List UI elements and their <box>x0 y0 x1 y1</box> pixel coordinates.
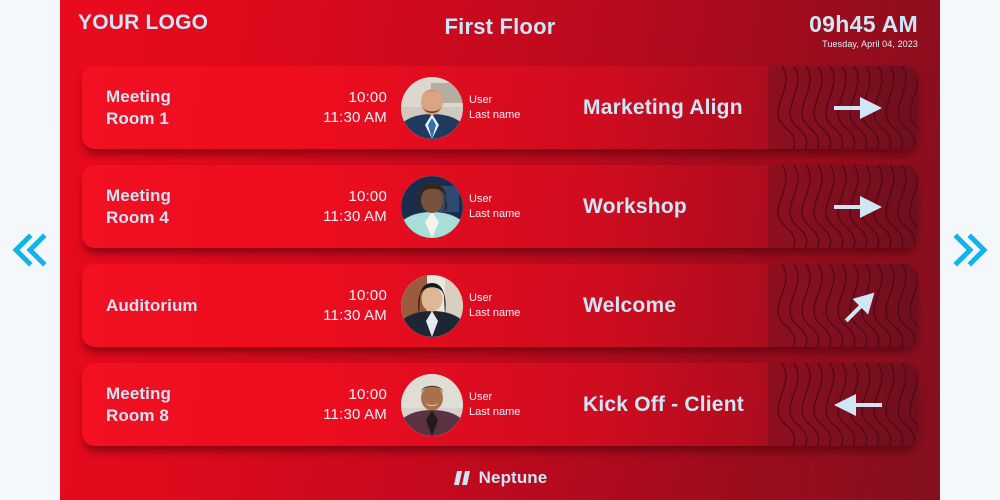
person-first-name: User <box>469 291 565 305</box>
meeting-rows: Meeting Room 1 10:00 11:30 AM <box>60 58 940 446</box>
meeting-start-time: 10:00 <box>297 286 387 306</box>
signage-board: YOUR LOGO First Floor 09h45 AM Tuesday, … <box>60 0 940 500</box>
person-name: User Last name <box>469 291 565 319</box>
person-last-name: Last name <box>469 405 565 419</box>
meeting-time: 10:00 11:30 AM <box>297 88 387 128</box>
board-header: YOUR LOGO First Floor 09h45 AM Tuesday, … <box>60 0 940 58</box>
meeting-time: 10:00 11:30 AM <box>297 385 387 425</box>
meeting-row[interactable]: Meeting Room 1 10:00 11:30 AM <box>82 66 918 149</box>
room-name: Auditorium <box>82 295 297 317</box>
person-last-name: Last name <box>469 108 565 122</box>
arrow-right-icon[interactable] <box>832 192 884 222</box>
room-name-line2: Room 1 <box>106 108 297 130</box>
meeting-end-time: 11:30 AM <box>297 207 387 227</box>
room-name: Meeting Room 4 <box>82 185 297 229</box>
brand-name: Neptune <box>479 468 548 488</box>
arrow-left-icon[interactable] <box>832 390 884 420</box>
room-name-line1: Auditorium <box>106 295 297 317</box>
person-name: User Last name <box>469 93 565 121</box>
prev-page-button[interactable] <box>0 0 60 500</box>
neptune-double-diamond-icon <box>453 470 473 486</box>
avatar <box>401 374 463 436</box>
meeting-end-time: 11:30 AM <box>297 108 387 128</box>
room-name-line1: Meeting <box>106 86 297 108</box>
person-first-name: User <box>469 390 565 404</box>
clock-block: 09h45 AM Tuesday, April 04, 2023 <box>809 12 918 49</box>
chevron-double-right-icon <box>950 233 990 267</box>
person-last-name: Last name <box>469 306 565 320</box>
person-name: User Last name <box>469 192 565 220</box>
meeting-start-time: 10:00 <box>297 187 387 207</box>
meeting-start-time: 10:00 <box>297 385 387 405</box>
next-page-button[interactable] <box>940 0 1000 500</box>
person-last-name: Last name <box>469 207 565 221</box>
meeting-time: 10:00 11:30 AM <box>297 187 387 227</box>
room-name-line2: Room 4 <box>106 207 297 229</box>
meeting-start-time: 10:00 <box>297 88 387 108</box>
meeting-end-time: 11:30 AM <box>297 405 387 425</box>
room-name-line1: Meeting <box>106 185 297 207</box>
board-footer: Neptune <box>60 468 940 488</box>
meeting-row[interactable]: Meeting Room 4 10:00 11:30 AM <box>82 165 918 248</box>
arrow-right-icon[interactable] <box>832 93 884 123</box>
room-name-line1: Meeting <box>106 383 297 405</box>
arrow-up-right-icon[interactable] <box>838 283 884 329</box>
current-date: Tuesday, April 04, 2023 <box>809 39 918 49</box>
avatar <box>401 275 463 337</box>
company-logo: YOUR LOGO <box>78 12 208 33</box>
room-name: Meeting Room 8 <box>82 383 297 427</box>
person-first-name: User <box>469 93 565 107</box>
avatar <box>401 77 463 139</box>
chevron-double-left-icon <box>10 233 50 267</box>
avatar <box>401 176 463 238</box>
person-name: User Last name <box>469 390 565 418</box>
room-name: Meeting Room 1 <box>82 86 297 130</box>
person-first-name: User <box>469 192 565 206</box>
current-time: 09h45 AM <box>809 12 918 36</box>
room-name-line2: Room 8 <box>106 405 297 427</box>
meeting-time: 10:00 11:30 AM <box>297 286 387 326</box>
meeting-row[interactable]: Auditorium 10:00 11:30 AM <box>82 264 918 347</box>
meeting-end-time: 11:30 AM <box>297 306 387 326</box>
meeting-row[interactable]: Meeting Room 8 10:00 11:30 AM <box>82 363 918 446</box>
